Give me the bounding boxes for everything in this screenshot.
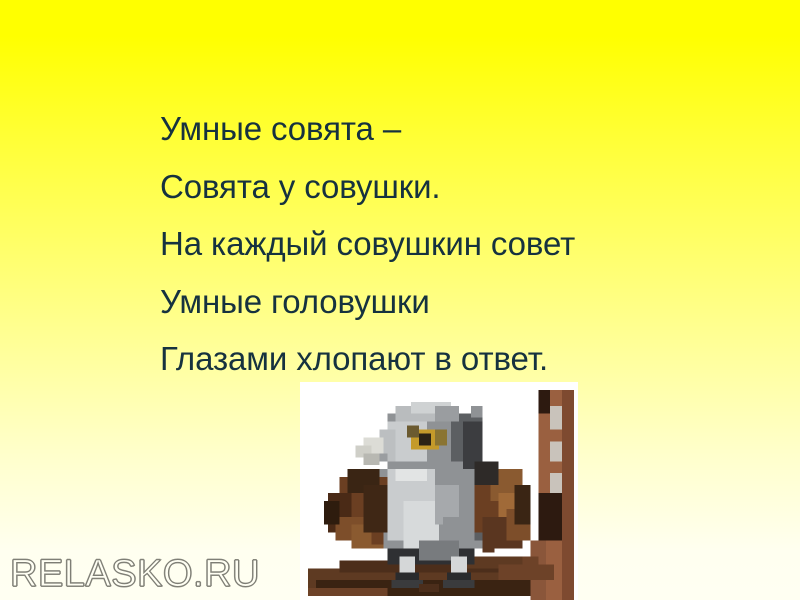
poem-line: Глазами хлопают в ответ. xyxy=(160,330,780,388)
poem-line: Умные головушки xyxy=(160,273,780,331)
poem-line: Совята у совушки. xyxy=(160,158,780,216)
owl-photo xyxy=(300,382,578,600)
poem-line: Умные совята – xyxy=(160,100,780,158)
watermark-relasko: RELASKO.RU xyxy=(10,553,260,596)
slide-canvas: Умные совята – Совята у совушки. На кажд… xyxy=(0,0,800,600)
poem-text-block: Умные совята – Совята у совушки. На кажд… xyxy=(160,100,780,388)
poem-line: На каждый совушкин совет xyxy=(160,215,780,273)
owl-image-canvas xyxy=(300,382,578,600)
